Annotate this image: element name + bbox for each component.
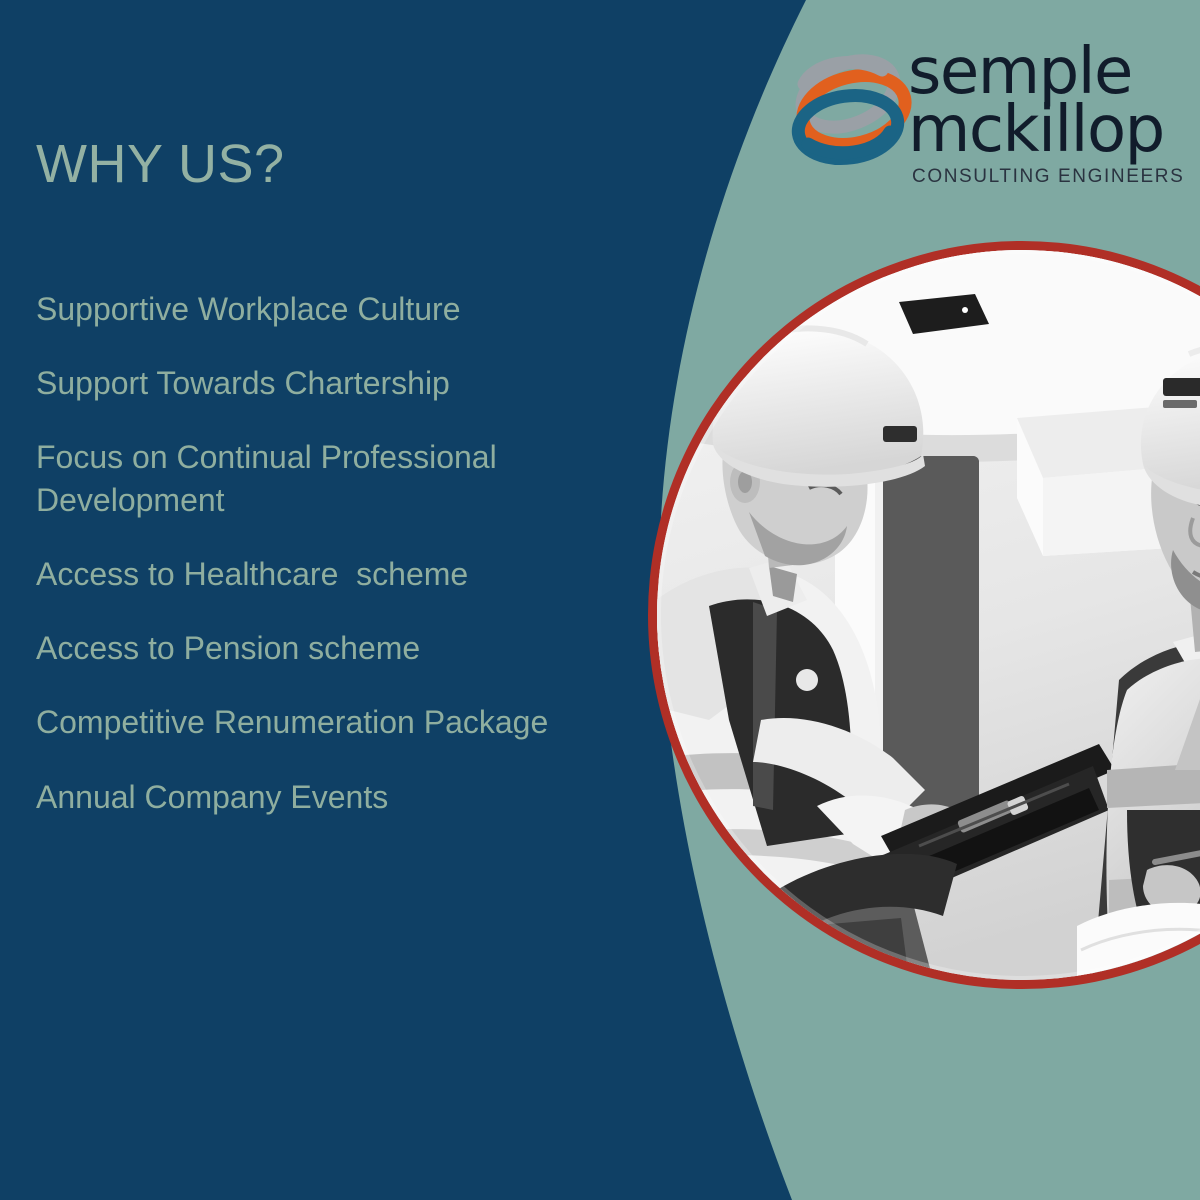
list-item: Support Towards Chartership <box>36 362 676 404</box>
list-item: Focus on Continual Professional Developm… <box>36 436 676 520</box>
poster-canvas: WHY US? Supportive Workplace Culture Sup… <box>0 0 1200 1200</box>
photo-illustration: semple mckillop CONSULTING ENGINEERS <box>657 250 1200 980</box>
list-item: Annual Company Events <box>36 776 676 818</box>
page-title: WHY US? <box>36 135 285 194</box>
logo-tagline: CONSULTING ENGINEERS <box>912 166 1184 188</box>
circular-photo: semple mckillop CONSULTING ENGINEERS <box>657 250 1200 980</box>
company-logo: semple mckillop CONSULTING ENGINEERS <box>786 24 1186 199</box>
list-item: Access to Pension scheme <box>36 627 676 669</box>
logo-wordmark: semple mckillop CONSULTING ENGINEERS <box>908 24 1186 199</box>
content-column: WHY US? Supportive Workplace Culture Sup… <box>36 0 676 1200</box>
three-interlocking-rings-icon <box>786 32 916 182</box>
photo-ring-border: semple mckillop CONSULTING ENGINEERS <box>648 241 1200 989</box>
benefits-list: Supportive Workplace Culture Support Tow… <box>36 288 676 850</box>
logo-line-mckillop: mckillop <box>908 98 1164 162</box>
list-item: Supportive Workplace Culture <box>36 288 676 330</box>
list-item: Access to Healthcare scheme <box>36 553 676 595</box>
list-item: Competitive Renumeration Package <box>36 701 676 743</box>
